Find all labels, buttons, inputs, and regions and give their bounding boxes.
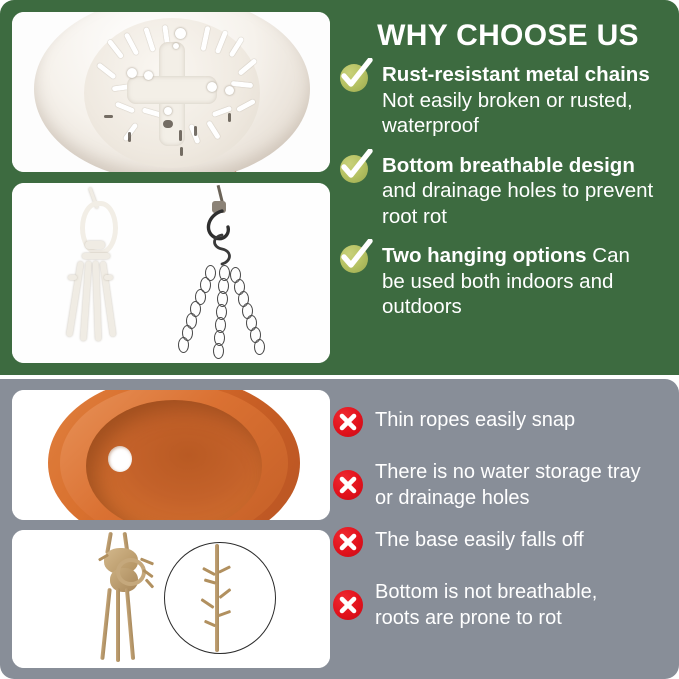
pros-item-rest: and drainage holes to prevent root rot (382, 179, 653, 228)
cons-list: Thin ropes easily snap There is no water… (333, 407, 663, 631)
list-item: Two hanging options Can be used both ind… (340, 243, 670, 320)
list-item: There is no water storage tray or draina… (333, 459, 663, 511)
pros-panel: WHY CHOOSE US Rust-resistant metal chain… (0, 0, 679, 375)
frayed-rope-photo (12, 530, 330, 668)
pros-item-bold: Bottom breathable design (382, 154, 635, 177)
pros-list: Rust-resistant metal chains Not easily b… (340, 62, 670, 320)
pros-item-text: Rust-resistant metal chains Not easily b… (382, 62, 654, 139)
x-circle-icon (333, 407, 363, 437)
pros-item-text: Two hanging options Can be used both ind… (382, 243, 654, 320)
list-item: Bottom is not breathable, roots are pron… (333, 579, 663, 631)
list-item: Bottom breathable design and drainage ho… (340, 153, 670, 230)
x-circle-icon (333, 470, 363, 500)
cons-item-text: There is no water storage tray or draina… (375, 459, 643, 511)
terracotta-pot-interior-photo (12, 390, 330, 520)
check-circle-icon (340, 243, 371, 274)
pros-item-bold: Rust-resistant metal chains (382, 63, 650, 86)
white-colander-planter-base-photo (12, 12, 330, 172)
x-circle-icon (333, 590, 363, 620)
cons-panel: Thin ropes easily snap There is no water… (0, 379, 679, 679)
hanging-options-photo (12, 183, 330, 363)
cons-photo-column (12, 390, 330, 668)
cons-item-text: Bottom is not breathable, roots are pron… (375, 579, 643, 631)
check-circle-icon (340, 62, 371, 93)
check-circle-icon (340, 153, 371, 184)
page-title: WHY CHOOSE US (368, 18, 648, 54)
center-hub (127, 42, 217, 146)
cons-item-text: The base easily falls off (375, 527, 584, 553)
pros-photo-column (12, 12, 330, 363)
list-item: The base easily falls off (333, 527, 663, 557)
cons-item-text: Thin ropes easily snap (375, 407, 575, 433)
pros-item-text: Bottom breathable design and drainage ho… (382, 153, 654, 230)
list-item: Rust-resistant metal chains Not easily b… (340, 62, 670, 139)
list-item: Thin ropes easily snap (333, 407, 663, 437)
x-circle-icon (333, 527, 363, 557)
pros-item-bold: Two hanging options (382, 244, 587, 267)
comparison-infographic: WHY CHOOSE US Rust-resistant metal chain… (0, 0, 679, 679)
pros-item-rest: Not easily broken or rusted, waterproof (382, 89, 633, 138)
